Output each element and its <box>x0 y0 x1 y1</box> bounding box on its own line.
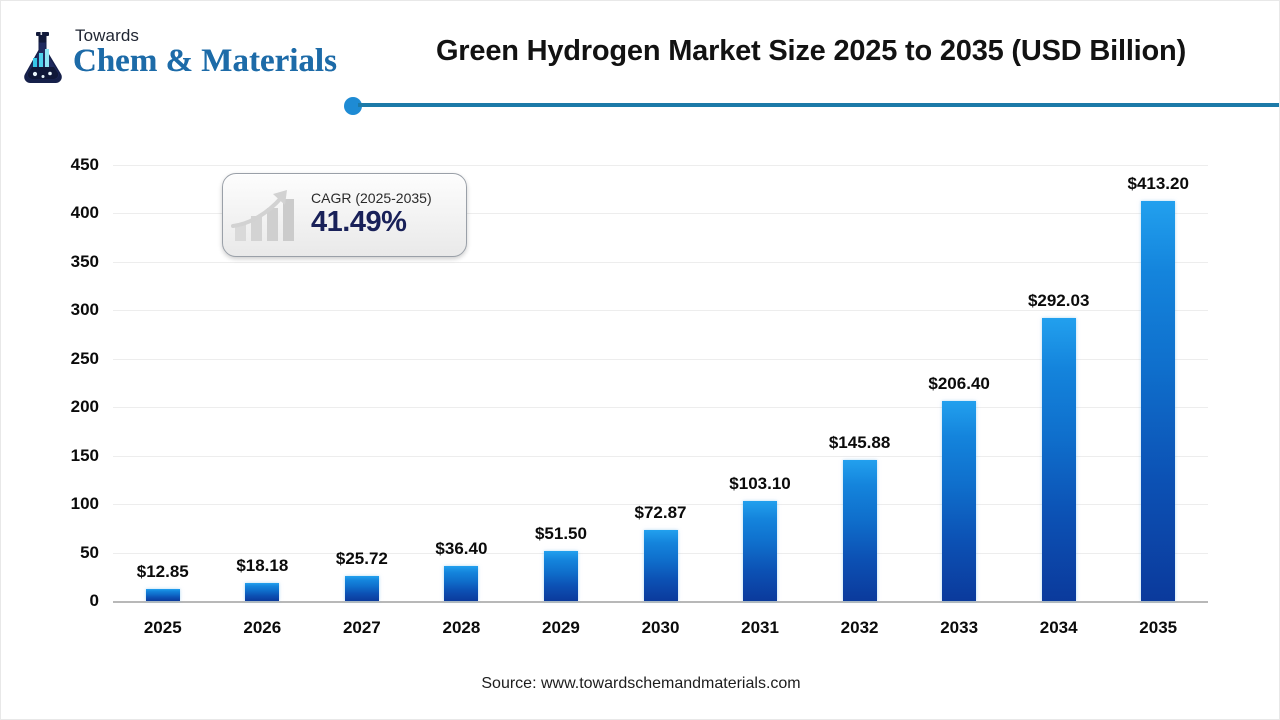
y-axis-tick-label: 200 <box>41 397 99 417</box>
cagr-value: 41.49% <box>311 206 458 239</box>
bar-value-label: $103.10 <box>729 474 790 494</box>
header-divider <box>344 96 1280 115</box>
cagr-label: CAGR (2025-2035) <box>311 191 458 206</box>
x-axis-tick-label: 2027 <box>343 618 381 638</box>
bar-value-label: $18.18 <box>236 556 288 576</box>
y-axis-tick-label: 250 <box>41 349 99 369</box>
bar-value-label: $51.50 <box>535 524 587 544</box>
bar-group[interactable]: $145.882032 <box>810 121 909 720</box>
x-axis-tick-label: 2028 <box>442 618 480 638</box>
x-axis-tick-label: 2029 <box>542 618 580 638</box>
x-axis-tick-label: 2026 <box>243 618 281 638</box>
bar[interactable] <box>444 566 478 601</box>
bar-value-label: $206.40 <box>928 374 989 394</box>
x-axis-tick-label: 2034 <box>1040 618 1078 638</box>
bar-value-label: $36.40 <box>435 539 487 559</box>
bar-group[interactable]: $72.872030 <box>611 121 710 720</box>
brand-line-chem-materials: Chem & Materials <box>73 45 337 78</box>
bar-value-label: $72.87 <box>635 503 687 523</box>
header: Towards Chem & Materials Green Hydrogen … <box>1 1 1280 121</box>
y-axis-tick-label: 300 <box>41 300 99 320</box>
bar-value-label: $12.85 <box>137 562 189 582</box>
bar[interactable] <box>345 576 379 601</box>
flask-bar-chart-icon <box>19 31 67 83</box>
x-axis-tick-label: 2031 <box>741 618 779 638</box>
y-axis-tick-label: 50 <box>41 543 99 563</box>
bar[interactable] <box>146 589 180 601</box>
bar-group[interactable]: $12.852025 <box>113 121 212 720</box>
x-axis-tick-label: 2033 <box>940 618 978 638</box>
bar[interactable] <box>644 530 678 601</box>
y-axis-tick-label: 100 <box>41 494 99 514</box>
y-axis-tick-label: 350 <box>41 252 99 272</box>
bar-group[interactable]: $206.402033 <box>910 121 1009 720</box>
source-note: Source: www.towardschemandmaterials.com <box>1 675 1280 693</box>
x-axis-tick-label: 2025 <box>144 618 182 638</box>
chart-page: Towards Chem & Materials Green Hydrogen … <box>0 0 1280 720</box>
y-axis-tick-label: 150 <box>41 446 99 466</box>
growth-bar-chart-arrow-icon <box>229 184 309 246</box>
x-axis-tick-label: 2035 <box>1139 618 1177 638</box>
bar-group[interactable]: $292.032034 <box>1009 121 1108 720</box>
y-axis-tick-label: 400 <box>41 203 99 223</box>
bar-value-label: $25.72 <box>336 549 388 569</box>
chart-plot-area: 050100150200250300350400450 $12.852025$1… <box>1 121 1280 720</box>
bar-value-label: $145.88 <box>829 433 890 453</box>
brand-logo[interactable]: Towards Chem & Materials <box>19 27 337 83</box>
bar-group[interactable]: $413.202035 <box>1109 121 1208 720</box>
bar-group[interactable]: $103.102031 <box>711 121 810 720</box>
bar[interactable] <box>1141 201 1175 601</box>
page-title: Green Hydrogen Market Size 2025 to 2035 … <box>381 35 1241 68</box>
x-axis-tick-label: 2032 <box>841 618 879 638</box>
bar[interactable] <box>544 551 578 601</box>
x-axis-tick-label: 2030 <box>642 618 680 638</box>
cagr-badge: CAGR (2025-2035) 41.49% <box>222 173 467 257</box>
y-axis-tick-label: 0 <box>41 591 99 611</box>
bar-value-label: $413.20 <box>1127 174 1188 194</box>
cagr-text-block: CAGR (2025-2035) 41.49% <box>309 191 466 240</box>
brand-line-towards: Towards <box>73 27 337 44</box>
bar-group[interactable]: $51.502029 <box>511 121 610 720</box>
bar-value-label: $292.03 <box>1028 291 1089 311</box>
bar[interactable] <box>743 501 777 601</box>
bar[interactable] <box>843 460 877 601</box>
y-axis-tick-label: 450 <box>41 155 99 175</box>
divider-line <box>358 103 1280 107</box>
brand-wordmark: Towards Chem & Materials <box>73 27 337 78</box>
bar[interactable] <box>245 583 279 601</box>
bar[interactable] <box>1042 318 1076 601</box>
bar[interactable] <box>942 401 976 601</box>
